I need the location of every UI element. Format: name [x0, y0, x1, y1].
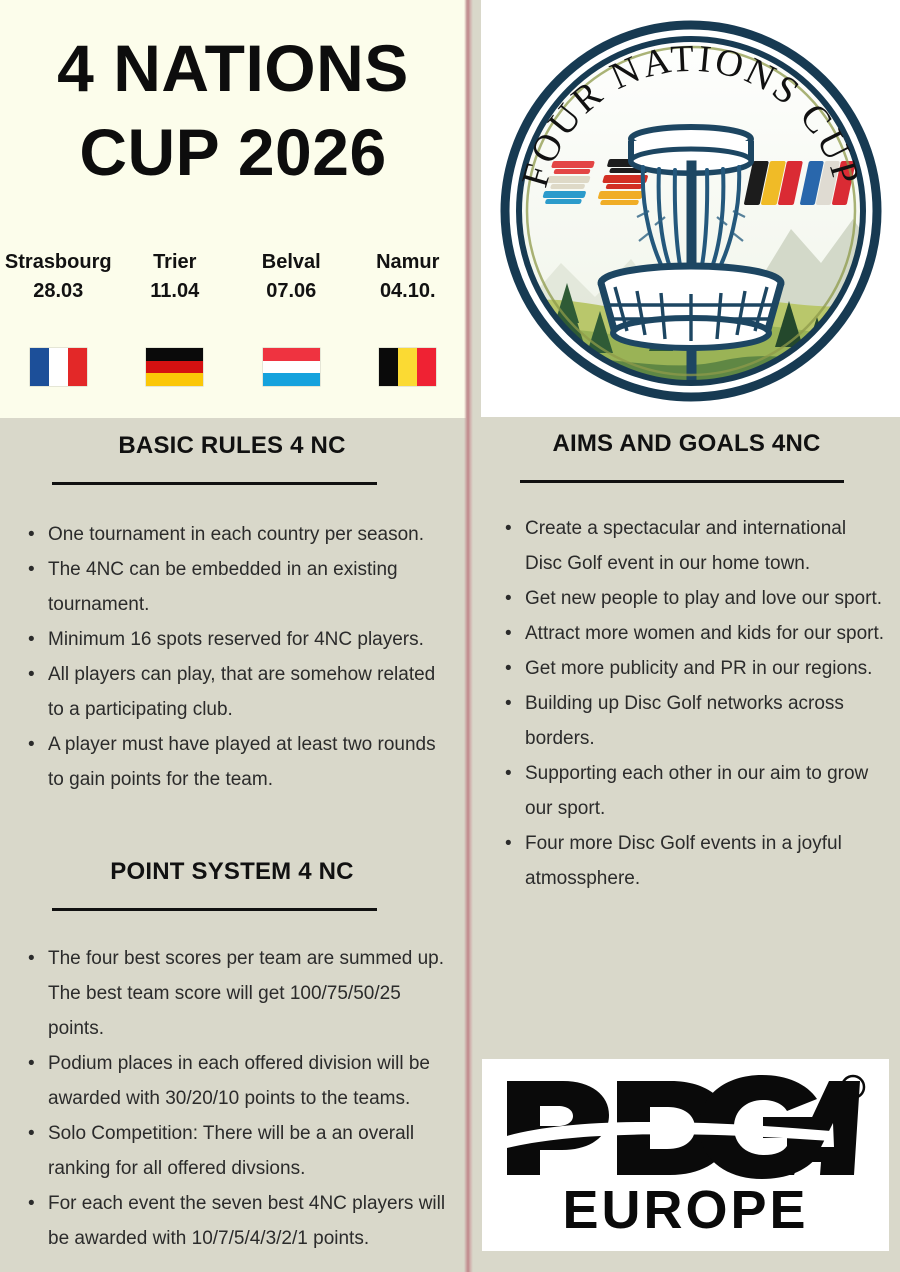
point-system-list: The four best scores per team are summed… [18, 941, 458, 1256]
heading-rule [52, 482, 377, 485]
logo-panel: FOUR NATIONS CUP [481, 0, 900, 417]
list-item: The four best scores per team are summed… [18, 941, 458, 1046]
list-item: Get more publicity and PR in our regions… [495, 651, 886, 686]
event-date: 11.04 [117, 277, 234, 306]
event-city-name: Belval [233, 248, 350, 277]
aims-goals-heading: AIMS AND GOALS 4NC [473, 430, 900, 458]
basic-rules-list: One tournament in each country per seaso… [18, 517, 452, 797]
pdga-europe-subtitle: EUROPE [562, 1183, 808, 1237]
section-aims-goals: AIMS AND GOALS 4NC Create a spectacular … [473, 430, 900, 896]
heading-rule [520, 480, 844, 483]
four-nations-cup-logo-icon: FOUR NATIONS CUP [491, 11, 891, 411]
list-item: Podium places in each offered division w… [18, 1046, 458, 1116]
list-item: A player must have played at least two r… [18, 727, 452, 797]
event-item: Namur 04.10. [350, 248, 467, 306]
list-item: Solo Competition: There will be a an ove… [18, 1116, 458, 1186]
event-date: 28.03 [0, 277, 117, 306]
event-item: Trier 11.04 [117, 248, 234, 306]
event-item: Belval 07.06 [233, 248, 350, 306]
event-item: Strasbourg 28.03 [0, 248, 117, 306]
list-item: Attract more women and kids for our spor… [495, 616, 886, 651]
title-line-1: 4 NATIONS [0, 26, 466, 110]
flag-luxembourg-icon [263, 348, 320, 386]
list-item: The 4NC can be embedded in an existing t… [18, 552, 452, 622]
list-item: All players can play, that are somehow r… [18, 657, 452, 727]
aims-goals-list: Create a spectacular and international D… [495, 511, 886, 896]
list-item: Supporting each other in our aim to grow… [495, 756, 886, 826]
pdga-wordmark-icon: R [501, 1073, 871, 1181]
event-city-name: Trier [117, 248, 234, 277]
left-column: BASIC RULES 4 NC One tournament in each … [0, 418, 464, 1272]
list-item: Minimum 16 spots reserved for 4NC player… [18, 622, 452, 657]
event-city-name: Namur [350, 248, 467, 277]
event-city-row: Strasbourg 28.03 Trier 11.04 Belval 07.0… [0, 248, 466, 306]
event-city-name: Strasbourg [0, 248, 117, 277]
header-band: 4 NATIONS CUP 2026 Strasbourg 28.03 Trie… [0, 0, 466, 418]
svg-text:R: R [848, 1080, 858, 1095]
event-date: 04.10. [350, 277, 467, 306]
poster-root: 4 NATIONS CUP 2026 Strasbourg 28.03 Trie… [0, 0, 900, 1272]
section-basic-rules: BASIC RULES 4 NC One tournament in each … [0, 432, 464, 797]
pdga-europe-logo-panel: R EUROPE [482, 1059, 889, 1251]
section-point-system: POINT SYSTEM 4 NC The four best scores p… [0, 858, 464, 1256]
point-system-heading: POINT SYSTEM 4 NC [0, 858, 464, 886]
flag-germany-icon [146, 348, 203, 386]
list-item: Get new people to play and love our spor… [495, 581, 886, 616]
event-date: 07.06 [233, 277, 350, 306]
heading-rule [52, 908, 377, 911]
list-item: Four more Disc Golf events in a joyful a… [495, 826, 886, 896]
list-item: For each event the seven best 4NC player… [18, 1186, 458, 1256]
list-item: Create a spectacular and international D… [495, 511, 886, 581]
flag-belgium-icon [379, 348, 436, 386]
basic-rules-heading: BASIC RULES 4 NC [0, 432, 464, 460]
title-line-2: CUP 2026 [0, 110, 466, 194]
list-item: One tournament in each country per seaso… [18, 517, 452, 552]
vertical-divider [464, 0, 473, 1272]
list-item: Building up Disc Golf networks across bo… [495, 686, 886, 756]
flag-row [0, 348, 466, 386]
flag-france-icon [30, 348, 87, 386]
poster-title: 4 NATIONS CUP 2026 [0, 26, 466, 195]
